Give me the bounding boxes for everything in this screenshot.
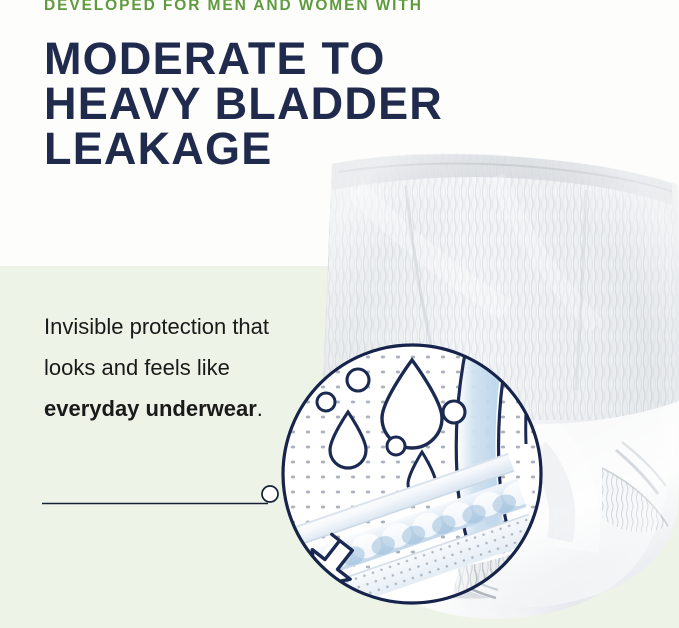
headline-line-3: LEAKAGE bbox=[44, 126, 544, 171]
absorbent-layers-callout bbox=[274, 338, 546, 610]
feature-text-plain: Invisible protection that looks and feel… bbox=[44, 314, 269, 380]
headline-line-1: MODERATE TO bbox=[44, 36, 544, 81]
eyebrow-text: DEVELOPED FOR MEN AND WOMEN WITH bbox=[44, 0, 423, 16]
page-title: MODERATE TO HEAVY BLADDER LEAKAGE bbox=[44, 36, 544, 171]
feature-text-bold: everyday underwear bbox=[44, 396, 257, 421]
feature-text-tail: . bbox=[257, 396, 263, 421]
feature-description: Invisible protection that looks and feel… bbox=[44, 306, 279, 429]
callout-leader-line bbox=[42, 492, 268, 495]
marketing-image-canvas: DEVELOPED FOR MEN AND WOMEN WITH MODERAT… bbox=[0, 0, 679, 628]
callout-endpoint-dot bbox=[260, 484, 280, 504]
headline-line-2: HEAVY BLADDER bbox=[44, 81, 544, 126]
